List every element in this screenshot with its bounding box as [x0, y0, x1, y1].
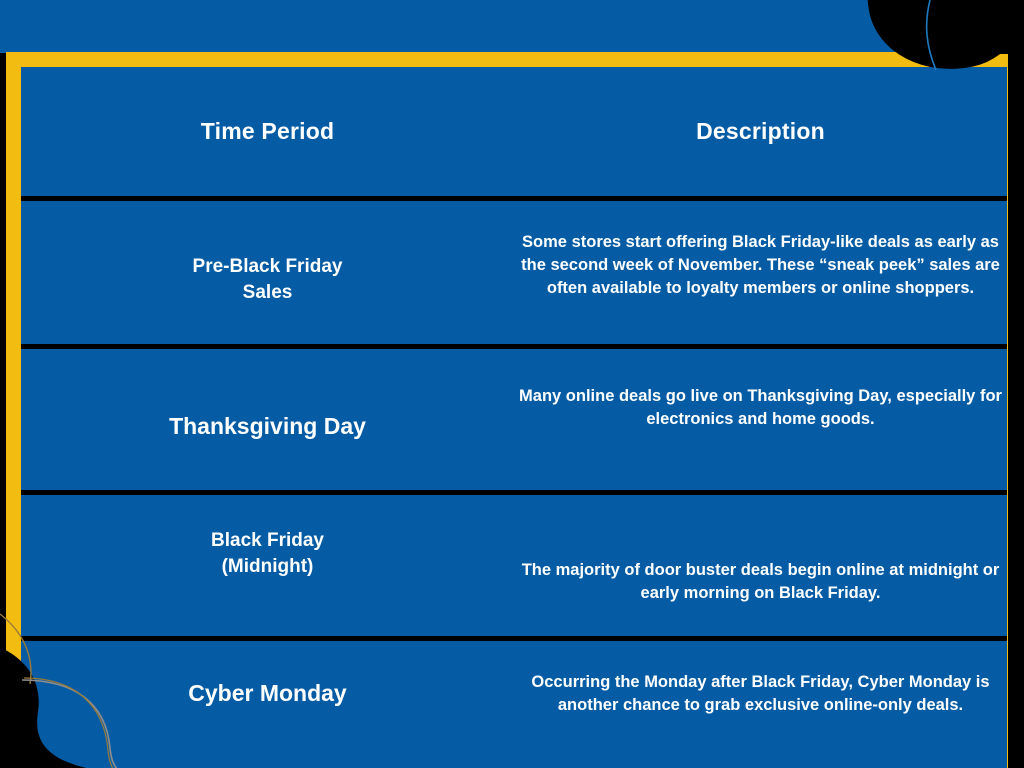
table-container: Time Period Description Pre-Black Friday… — [21, 67, 1007, 751]
description-text: The majority of door buster deals begin … — [518, 559, 1003, 605]
table-header-row: Time Period Description — [21, 67, 1007, 199]
cell-description: The majority of door buster deals begin … — [514, 493, 1007, 639]
cell-time-period: Black Friday (Midnight) — [21, 493, 514, 639]
description-text: Many online deals go live on Thanksgivin… — [518, 385, 1003, 431]
cell-description: Some stores start offering Black Friday-… — [514, 199, 1007, 347]
description-text: Occurring the Monday after Black Friday,… — [518, 671, 1003, 717]
table-row: Pre-Black Friday Sales Some stores start… — [21, 199, 1007, 347]
black-friday-timeline-table: Time Period Description Pre-Black Friday… — [21, 67, 1007, 768]
table-row: Cyber Monday Occurring the Monday after … — [21, 639, 1007, 768]
table-row: Black Friday (Midnight) The majority of … — [21, 493, 1007, 639]
time-period-text: Pre-Black Friday Sales — [25, 254, 510, 305]
cell-description: Occurring the Monday after Black Friday,… — [514, 639, 1007, 768]
cell-time-period: Thanksgiving Day — [21, 347, 514, 493]
time-period-text: Cyber Monday — [25, 678, 510, 709]
time-period-text: Black Friday (Midnight) — [25, 528, 510, 579]
top-blue-band — [0, 0, 1024, 53]
cell-time-period: Pre-Black Friday Sales — [21, 199, 514, 347]
cell-time-period: Cyber Monday — [21, 639, 514, 768]
time-period-text: Thanksgiving Day — [25, 411, 510, 442]
cell-description: Many online deals go live on Thanksgivin… — [514, 347, 1007, 493]
description-text: Some stores start offering Black Friday-… — [518, 231, 1003, 299]
header-cell-time-period: Time Period — [21, 67, 514, 199]
table-row: Thanksgiving Day Many online deals go li… — [21, 347, 1007, 493]
header-cell-description: Description — [514, 67, 1007, 199]
slide-canvas: Time Period Description Pre-Black Friday… — [0, 0, 1024, 768]
